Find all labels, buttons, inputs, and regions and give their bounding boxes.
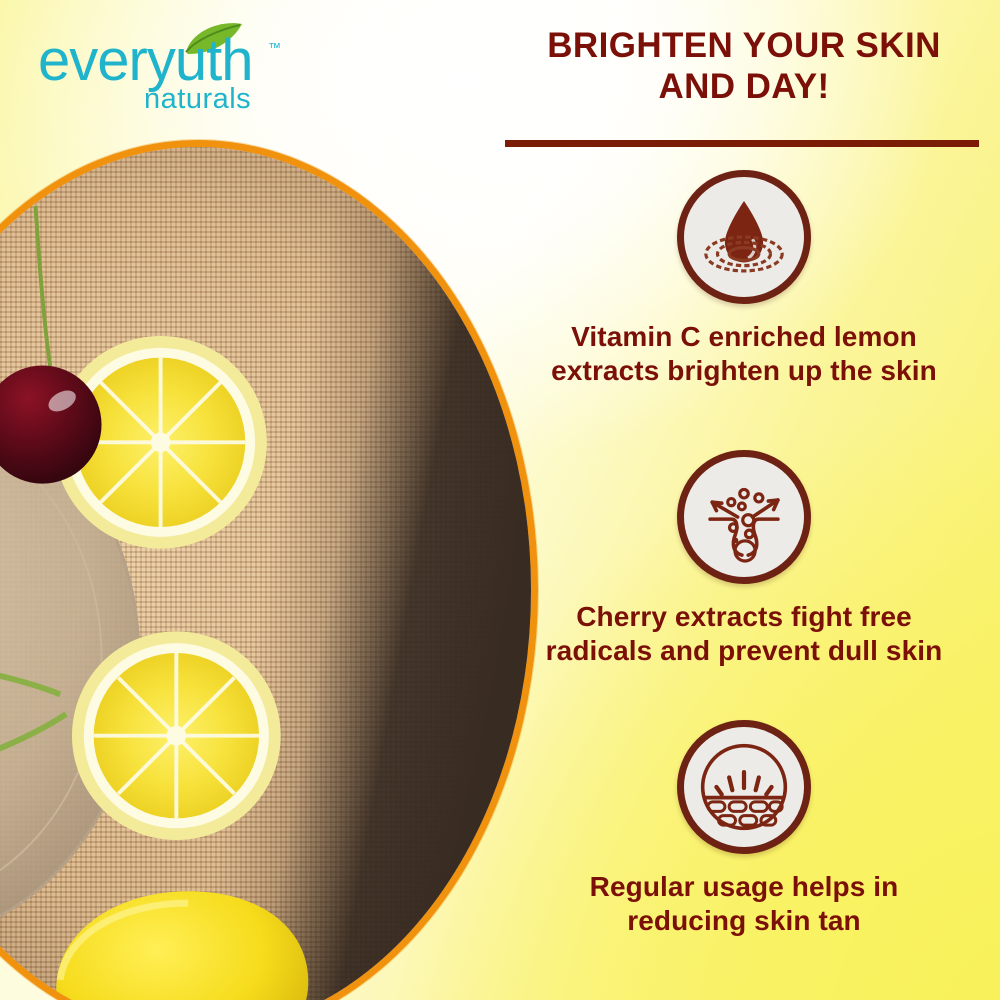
feature-caption-line-2: radicals and prevent dull skin: [505, 634, 983, 668]
free-radical-pore-icon: [691, 464, 797, 570]
skin-layers-sun-icon: [691, 734, 797, 840]
headline-line-1: BRIGHTEN YOUR SKIN: [547, 26, 941, 65]
brand-logo[interactable]: everyuth naturals ™: [36, 18, 296, 114]
feature-item-reduce-tan: Regular usage helps in reducing skin tan: [505, 720, 983, 938]
title-divider: [505, 140, 979, 147]
feature-icon-badge: [677, 170, 811, 304]
feature-caption-line-2: reducing skin tan: [505, 904, 983, 938]
lemon-half-bottom: [72, 631, 281, 840]
promo-poster: everyuth naturals ™: [0, 0, 1000, 1000]
feature-caption: Vitamin C enriched lemon extracts bright…: [505, 320, 983, 388]
brand-tagline: naturals: [144, 83, 251, 114]
photo-contents: [0, 147, 531, 1000]
water-drop-ripple-icon: [691, 184, 797, 290]
page-title: BRIGHTEN YOUR SKIN AND DAY!: [505, 26, 983, 107]
feature-caption: Cherry extracts fight free radicals and …: [505, 600, 983, 668]
trademark-mark: ™: [268, 40, 281, 55]
feature-icon-badge: [677, 450, 811, 584]
product-ingredients-photo: [0, 140, 538, 1000]
feature-item-vitamin-c: Vitamin C enriched lemon extracts bright…: [505, 170, 983, 388]
feature-caption-line-1: Vitamin C enriched lemon: [505, 320, 983, 354]
feature-caption-line-1: Regular usage helps in: [505, 870, 983, 904]
whole-lemon: [56, 891, 308, 1000]
feature-item-cherry-extracts: Cherry extracts fight free radicals and …: [505, 450, 983, 668]
cherry-dark-top: [0, 206, 102, 484]
feature-caption-line-2: extracts brighten up the skin: [505, 354, 983, 388]
feature-caption: Regular usage helps in reducing skin tan: [505, 870, 983, 938]
feature-caption-line-1: Cherry extracts fight free: [505, 600, 983, 634]
headline-line-2: AND DAY!: [505, 67, 983, 108]
feature-icon-badge: [677, 720, 811, 854]
